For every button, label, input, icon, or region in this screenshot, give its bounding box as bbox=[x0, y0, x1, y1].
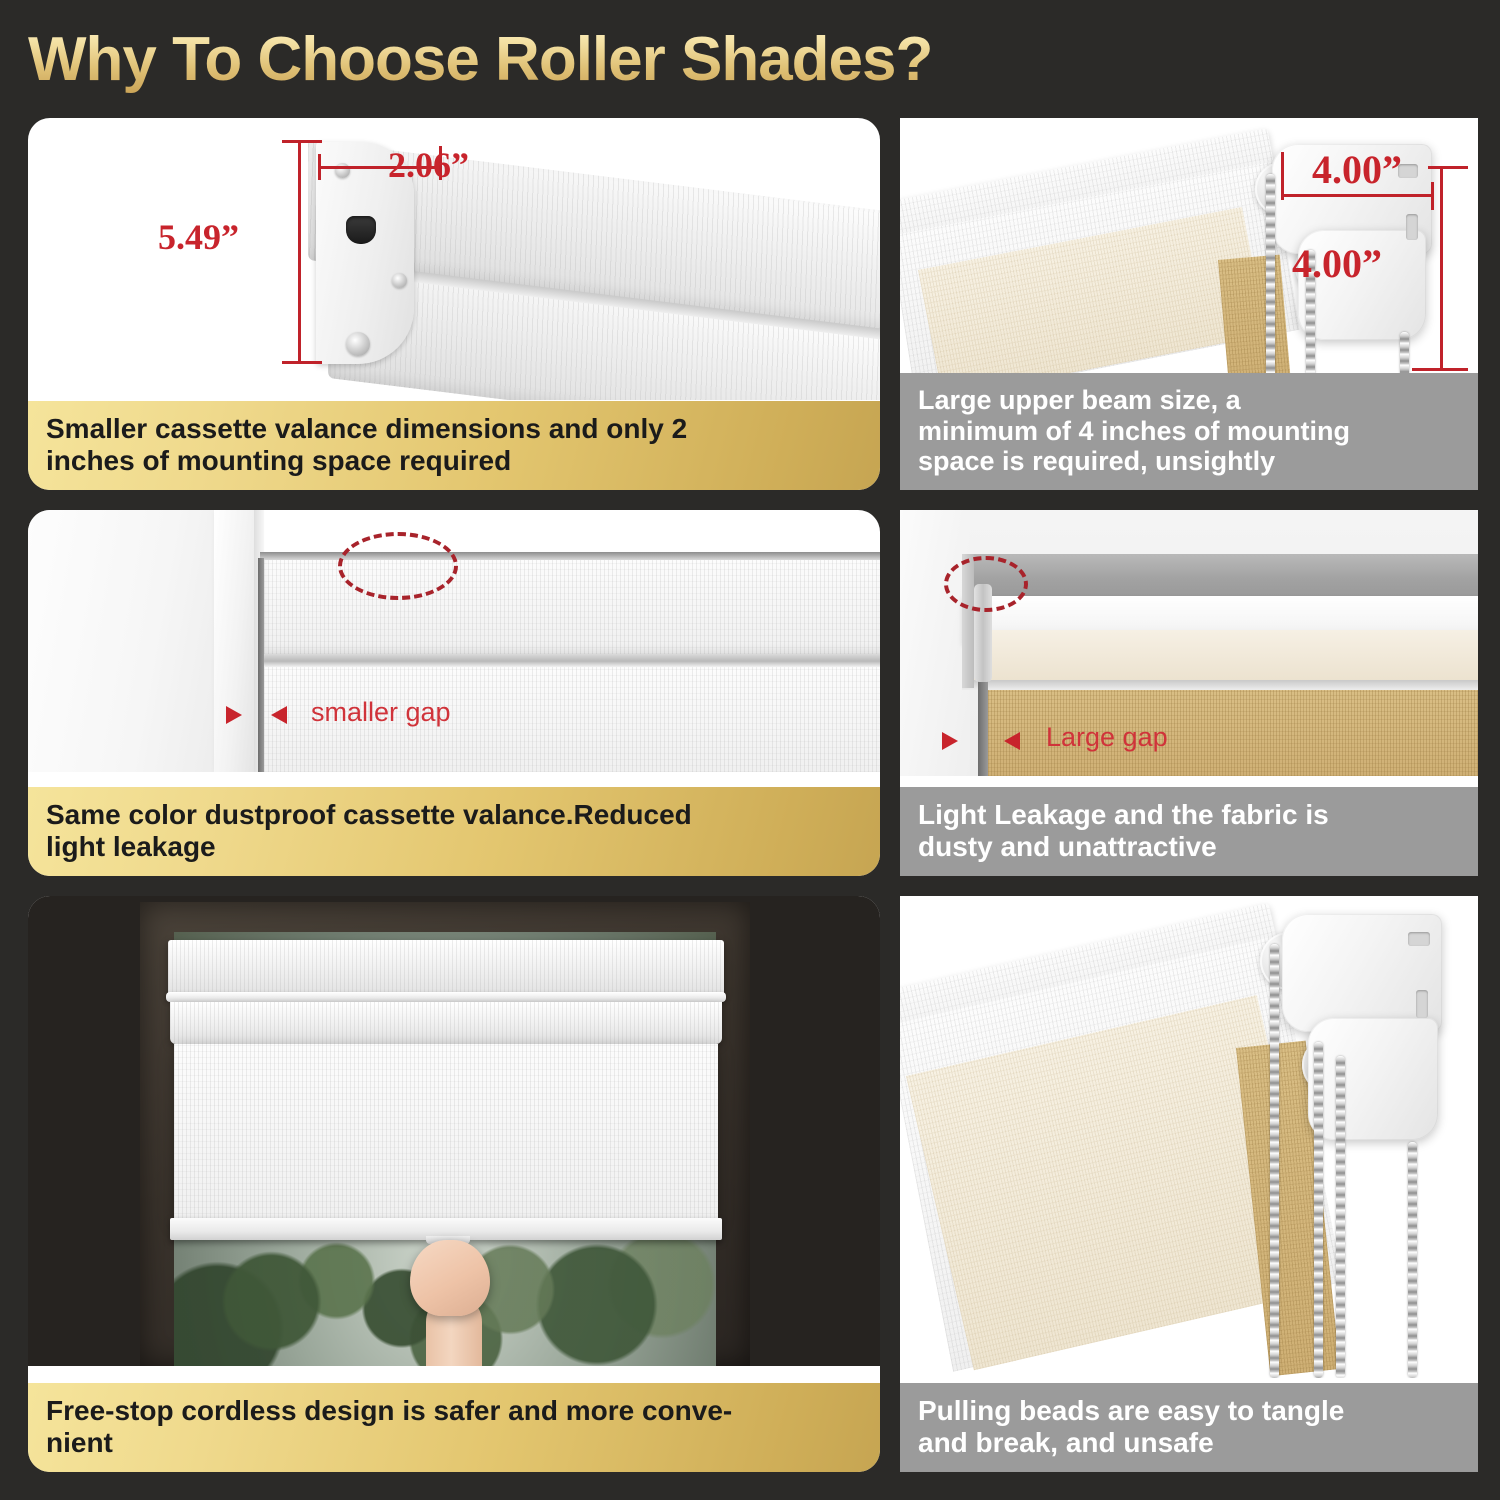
infographic-root: Why To Choose Roller Shades? 5.49” 2.06 bbox=[0, 0, 1500, 1500]
bead-chain-mid2 bbox=[1336, 1056, 1345, 1378]
bracket-notch-b bbox=[1406, 214, 1418, 240]
cordless-window-scene bbox=[28, 896, 880, 1366]
caption-line-1: Light Leakage and the fabric is bbox=[918, 799, 1460, 830]
caption-row1-left: Smaller cassette valance dimensions and … bbox=[28, 401, 880, 490]
beam-width-label: 4.00” bbox=[1312, 146, 1402, 193]
backing-fabric-tan bbox=[1218, 255, 1292, 390]
beam-height-tick-bottom bbox=[1412, 368, 1468, 371]
mounting-bracket-lower bbox=[1308, 1018, 1438, 1140]
gap-arrow-left bbox=[226, 706, 242, 724]
large-gap-image: Large gap bbox=[900, 510, 1478, 776]
caption-line-3: space is required, unsightly bbox=[918, 446, 1460, 476]
caption-line-1: Free-stop cordless design is safer and m… bbox=[46, 1395, 862, 1426]
smaller-gap-image: smaller gap bbox=[28, 510, 880, 772]
screw-bottom bbox=[346, 332, 370, 356]
beam-height-line bbox=[1440, 166, 1443, 370]
gap-arrow-right bbox=[1004, 732, 1020, 750]
caption-line-2: inches of mounting space required bbox=[46, 445, 862, 476]
width-dimension-label: 2.06” bbox=[388, 144, 469, 186]
width-tick-left bbox=[318, 154, 321, 180]
panel-row3-right: Pulling beads are easy to tangle and bre… bbox=[900, 896, 1478, 1472]
height-dimension-line bbox=[298, 140, 301, 364]
shade-head-lip bbox=[166, 992, 726, 1002]
wall-left bbox=[900, 510, 970, 776]
window-jamb bbox=[214, 510, 258, 772]
bead-chain-left bbox=[1270, 944, 1279, 1378]
panel-row1-left: 5.49” 2.06” Smaller cassette valance dim… bbox=[28, 118, 880, 490]
beam-width-tick-left bbox=[1281, 152, 1284, 200]
caption-row1-right: Large upper beam size, a minimum of 4 in… bbox=[900, 373, 1478, 490]
bead-chain-right bbox=[1408, 1142, 1417, 1378]
wall-surface bbox=[28, 510, 228, 772]
gap-label: smaller gap bbox=[311, 697, 451, 728]
height-tick-bottom bbox=[282, 361, 322, 364]
gap-label: Large gap bbox=[1046, 722, 1168, 753]
caption-line-2: dusty and unattractive bbox=[918, 831, 1460, 862]
highlight-ellipse bbox=[944, 556, 1028, 612]
gap-line bbox=[258, 558, 264, 772]
caption-row3-left: Free-stop cordless design is safer and m… bbox=[28, 1383, 880, 1472]
valance-face-cream bbox=[962, 630, 1478, 682]
caption-line-2: and break, and unsafe bbox=[918, 1427, 1460, 1458]
caption-row2-left: Same color dustproof cassette valance.Re… bbox=[28, 787, 880, 876]
beam-width-tick-right bbox=[1431, 182, 1434, 210]
shade-head-rail bbox=[168, 940, 724, 996]
cord-slot bbox=[346, 216, 376, 244]
valance-bottom-edge bbox=[962, 680, 1478, 690]
bead-chain-left bbox=[1266, 174, 1275, 390]
height-tick-top bbox=[282, 140, 322, 143]
pull-bead-image bbox=[900, 896, 1478, 1378]
panel-row2-right: Large gap Light Leakage and the fabric i… bbox=[900, 510, 1478, 876]
highlight-ellipse-top bbox=[338, 532, 458, 600]
large-beam-image: 4.00” 4.00” bbox=[900, 118, 1478, 390]
gap-line bbox=[978, 680, 988, 776]
shade-head-lower bbox=[170, 1002, 722, 1044]
caption-line-1: Same color dustproof cassette valance.Re… bbox=[46, 799, 862, 830]
caption-line-1: Large upper beam size, a bbox=[918, 385, 1460, 415]
screw-mid bbox=[392, 273, 407, 288]
beam-height-tick-top bbox=[1428, 166, 1468, 169]
gap-arrow-right bbox=[271, 706, 287, 724]
panel-row1-right: 4.00” 4.00” Large upper beam size, a min… bbox=[900, 118, 1478, 490]
valance-bottom-lip bbox=[262, 654, 880, 667]
panel-row2-left: smaller gap Same color dustproof cassett… bbox=[28, 510, 880, 876]
caption-line-2: minimum of 4 inches of mounting bbox=[918, 416, 1460, 446]
caption-line-1: Pulling beads are easy to tangle bbox=[918, 1395, 1460, 1426]
caption-line-2: light leakage bbox=[46, 831, 862, 862]
beam-height-label: 4.00” bbox=[1292, 240, 1382, 287]
bead-chain-mid bbox=[1314, 1042, 1323, 1378]
gap-arrow-left bbox=[942, 732, 958, 750]
height-dimension-label: 5.49” bbox=[158, 216, 239, 258]
beam-width-line bbox=[1282, 194, 1434, 197]
caption-row2-right: Light Leakage and the fabric is dusty an… bbox=[900, 787, 1478, 876]
caption-row3-right: Pulling beads are easy to tangle and bre… bbox=[900, 1383, 1478, 1472]
bracket-notch-a bbox=[1408, 932, 1430, 946]
panel-row3-left: Free-stop cordless design is safer and m… bbox=[28, 896, 880, 1472]
shade-fabric-panel bbox=[174, 1044, 718, 1220]
hand-grabbing-rail bbox=[410, 1240, 490, 1316]
bracket-notch-b bbox=[1416, 990, 1428, 1018]
cassette-valance-image: 5.49” 2.06” bbox=[28, 118, 880, 400]
caption-line-1: Smaller cassette valance dimensions and … bbox=[46, 413, 862, 444]
beam-top-grey bbox=[962, 554, 1478, 596]
caption-line-2: nient bbox=[46, 1427, 862, 1458]
page-title: Why To Choose Roller Shades? bbox=[28, 24, 1088, 96]
